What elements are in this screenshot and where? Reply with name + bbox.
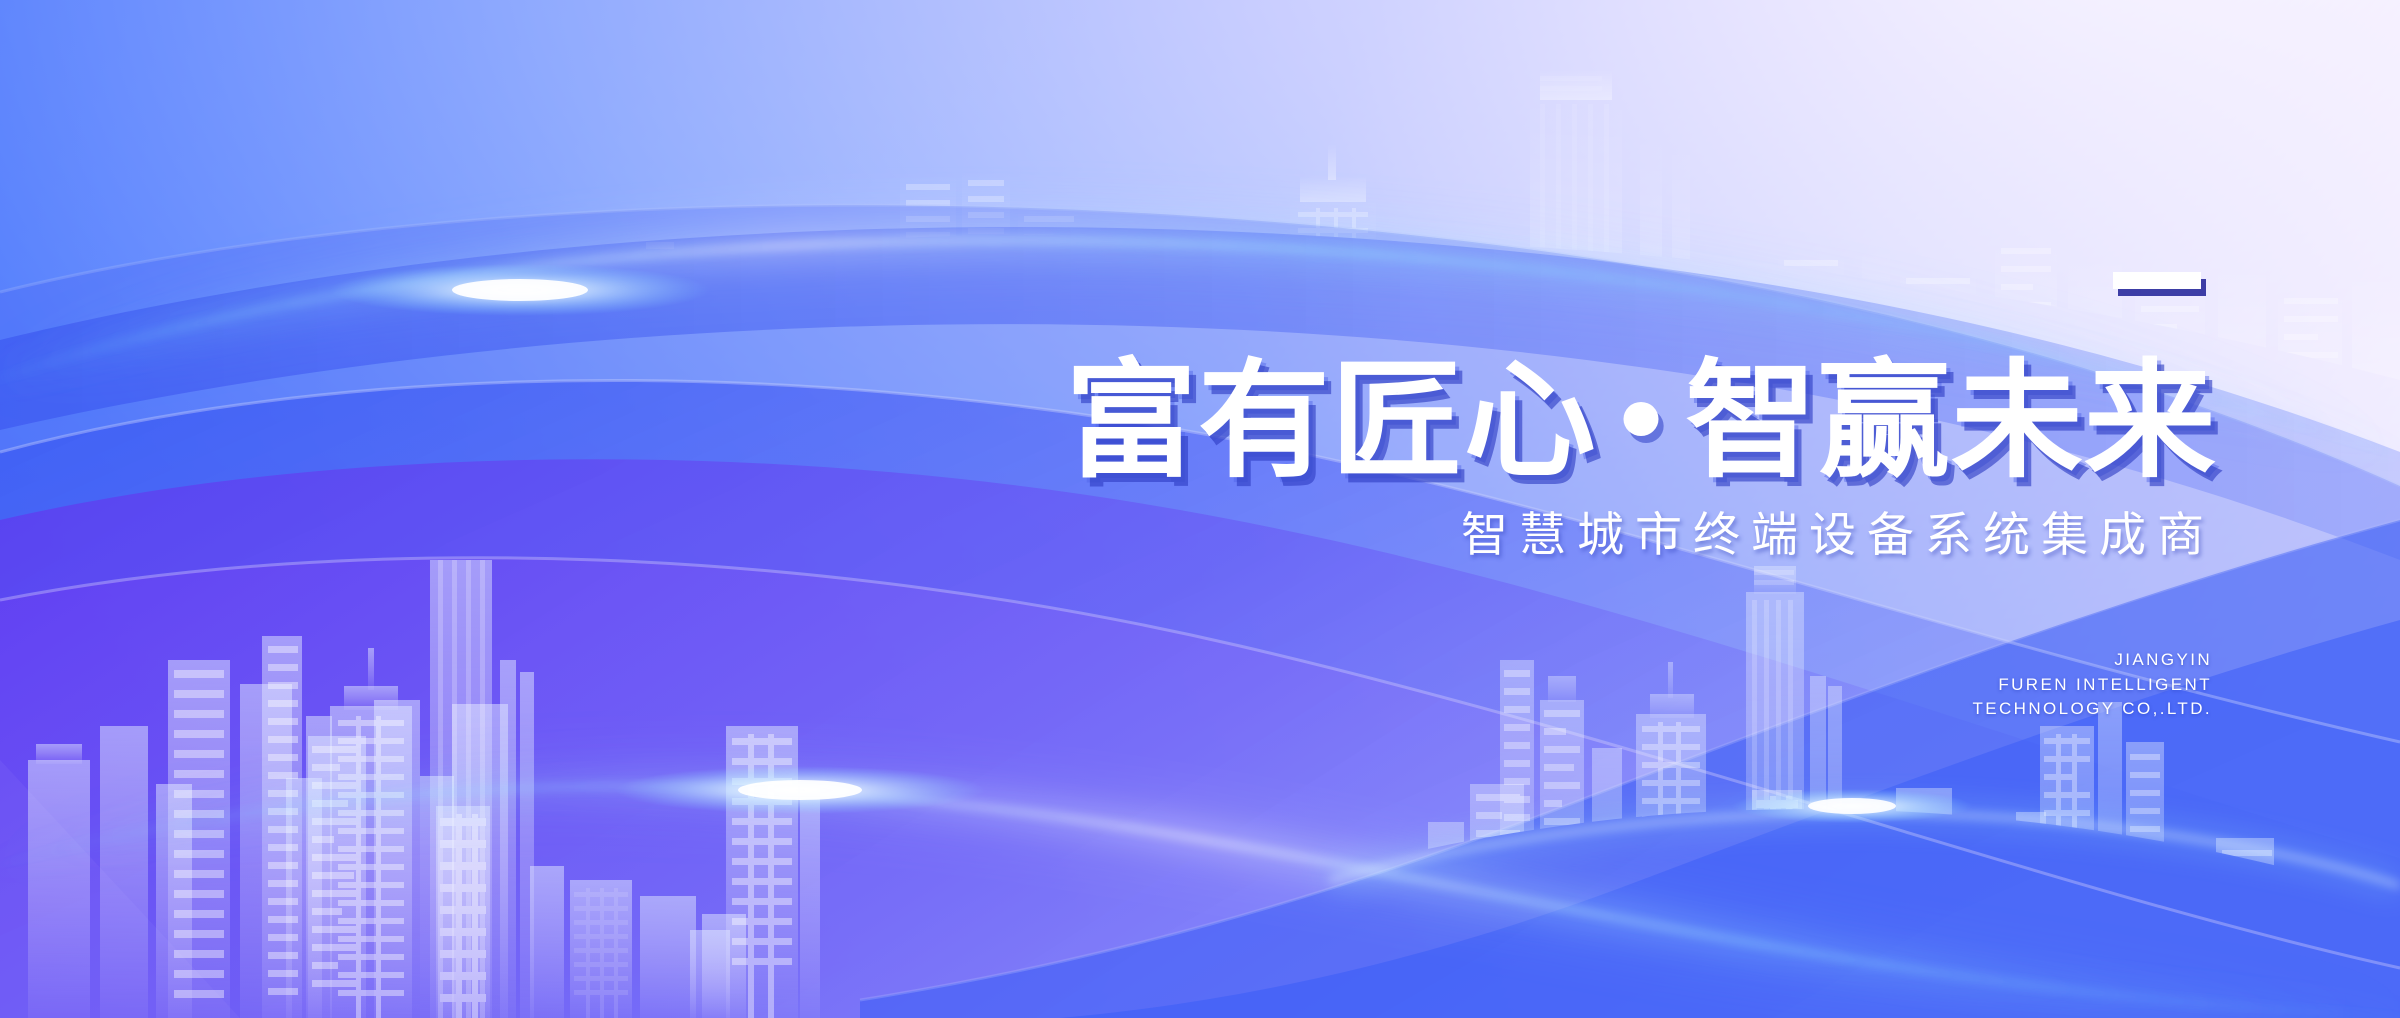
headline-separator-dot [1623,402,1658,436]
company-name-english: JIANGYIN FUREN INTELLIGENT TECHNOLOGY CO… [1760,648,2212,722]
accent-dash-mark [2113,272,2201,289]
headline-right: 智赢未来 [1685,358,2216,486]
banner-root: 富有匠心智赢未来 智慧城市终端设备系统集成商 JIANGYIN FUREN IN… [0,0,2400,1018]
company-en-line2: FUREN INTELLIGENT [1760,673,2212,698]
headline-left: 富有匠心 [1065,358,1596,486]
text-content-block: 富有匠心智赢未来 智慧城市终端设备系统集成商 JIANGYIN FUREN IN… [0,0,2400,1018]
company-en-line1: JIANGYIN [1760,648,2212,673]
subtitle: 智慧城市终端设备系统集成商 [1060,505,2215,567]
company-en-line3: TECHNOLOGY CO,.LTD. [1760,697,2212,722]
headline: 富有匠心智赢未来 [1043,358,2240,486]
